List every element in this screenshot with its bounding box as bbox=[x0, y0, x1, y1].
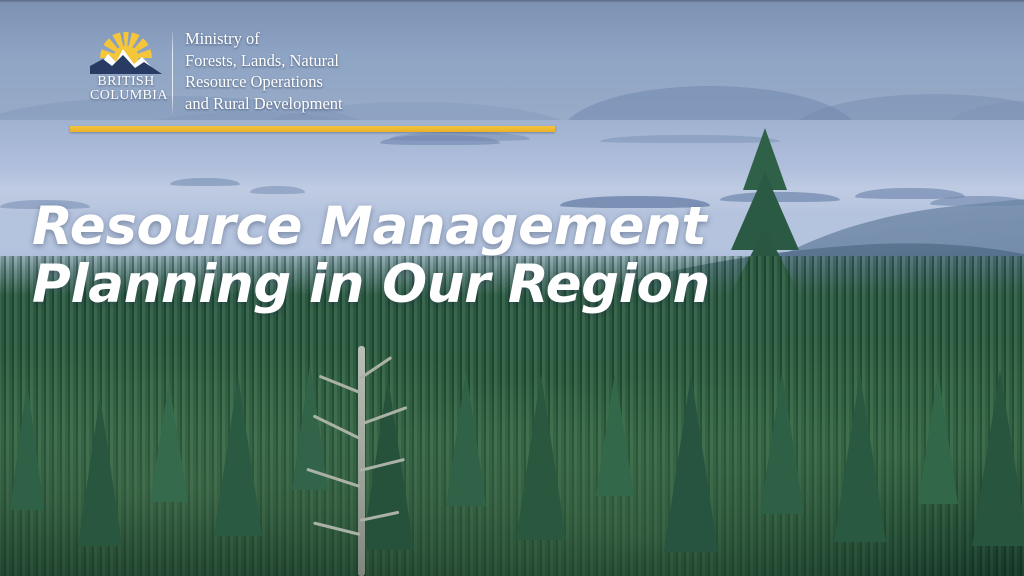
conifer-tree bbox=[214, 376, 262, 536]
title-slide: BRITISH COLUMBIA Ministry of Forests, La… bbox=[0, 0, 1024, 576]
conifer-tree bbox=[760, 372, 804, 514]
conifer-tree bbox=[972, 370, 1024, 546]
bc-sun-mountain-icon: BRITISH COLUMBIA bbox=[90, 28, 162, 104]
conifer-tree bbox=[918, 372, 958, 504]
conifer-tree bbox=[664, 374, 718, 552]
ministry-name: Ministry of Forests, Lands, Natural Reso… bbox=[185, 28, 343, 114]
ministry-line-1: Ministry of bbox=[185, 28, 343, 50]
ministry-line-2: Forests, Lands, Natural bbox=[185, 50, 343, 72]
ministry-line-3: Resource Operations bbox=[185, 71, 343, 93]
bc-government-logo: BRITISH COLUMBIA Ministry of Forests, La… bbox=[90, 28, 343, 114]
slide-title: Resource Management Planning in Our Regi… bbox=[32, 198, 972, 314]
ministry-line-4: and Rural Development bbox=[185, 93, 343, 115]
lake-island bbox=[170, 178, 240, 186]
bc-wordmark: BRITISH COLUMBIA bbox=[90, 75, 162, 104]
lake-island bbox=[250, 186, 305, 194]
conifer-tree bbox=[446, 370, 486, 506]
gold-accent-rule bbox=[70, 126, 555, 132]
conifer-tree bbox=[516, 374, 566, 540]
conifer-tree bbox=[596, 372, 634, 496]
dead-snag-tree bbox=[300, 346, 430, 576]
conifer-tree bbox=[78, 396, 122, 546]
far-shore-spit bbox=[380, 135, 500, 145]
logo-divider bbox=[172, 32, 173, 114]
conifer-tree bbox=[150, 382, 188, 502]
conifer-tree bbox=[834, 374, 886, 542]
wordmark-line-2: COLUMBIA bbox=[90, 89, 162, 103]
conifer-tree bbox=[10, 382, 44, 510]
